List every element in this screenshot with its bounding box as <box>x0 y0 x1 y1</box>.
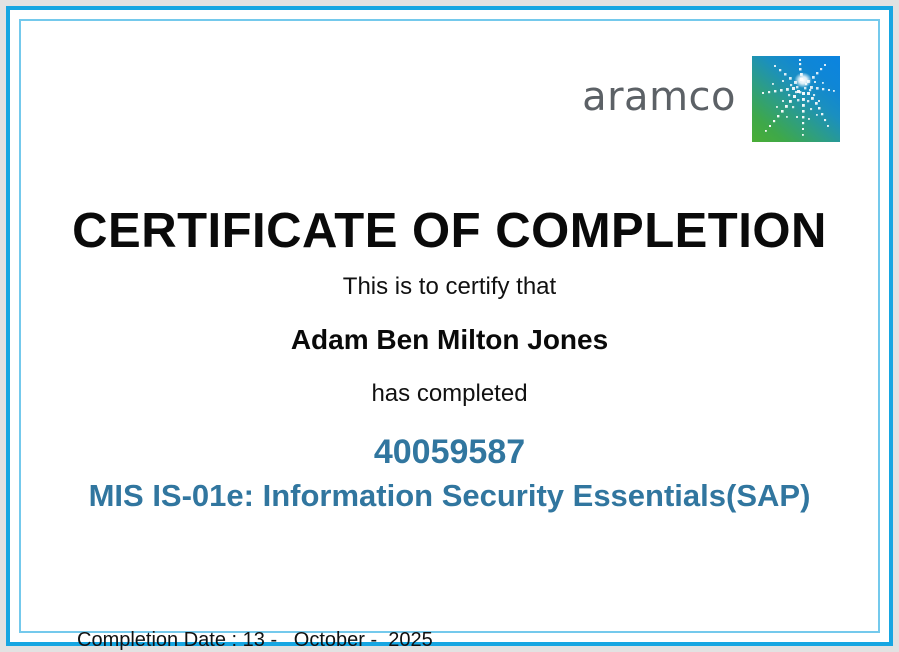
completion-date: Completion Date : 13 - October - 2025 <box>77 629 433 652</box>
aramco-brand-block: aramco <box>582 56 840 142</box>
certificate-document: aramco <box>6 6 893 646</box>
aramco-starburst-logo <box>752 56 840 142</box>
course-title: MIS IS-01e: Information Security Essenti… <box>21 478 878 514</box>
completed-statement: has completed <box>21 380 878 408</box>
course-number: 40059587 <box>21 433 878 472</box>
certificate-inner-border: aramco <box>19 19 880 633</box>
certificate-content: aramco <box>21 21 878 631</box>
aramco-wordmark: aramco <box>582 77 736 121</box>
certify-statement: This is to certify that <box>21 273 878 301</box>
recipient-name: Adam Ben Milton Jones <box>21 324 878 356</box>
certificate-title: CERTIFICATE OF COMPLETION <box>21 203 878 259</box>
starburst-icon <box>752 56 840 142</box>
